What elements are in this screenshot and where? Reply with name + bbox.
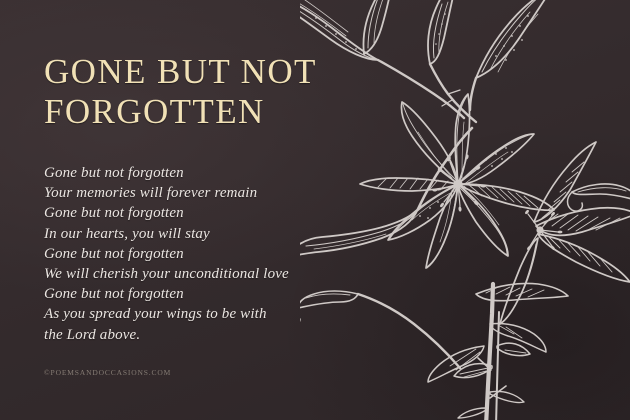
poem-body: Gone but not forgotten Your memories wil… [44,163,334,345]
poem-line: Gone but not forgotten [44,284,334,304]
poem-line: Gone but not forgotten [44,203,334,223]
page-title: Gone but not forgotten [44,52,329,132]
poem-line: Gone but not forgotten [44,163,334,183]
watermark-credit: ©poemsandoccasions.com [44,368,171,377]
memorial-poster: Gone but not forgotten Gone but not forg… [0,0,630,420]
poem-line: In our hearts, you will stay [44,224,334,244]
poem-line: Your memories will forever remain [44,183,334,203]
poem-line: Gone but not forgotten [44,244,334,264]
text-column: Gone but not forgotten Gone but not forg… [44,0,329,420]
poem-line: As you spread your wings to be with [44,304,334,324]
poem-line: the Lord above. [44,325,334,345]
poem-line: We will cherish your unconditional love [44,264,334,284]
lily-illustration [300,0,630,420]
